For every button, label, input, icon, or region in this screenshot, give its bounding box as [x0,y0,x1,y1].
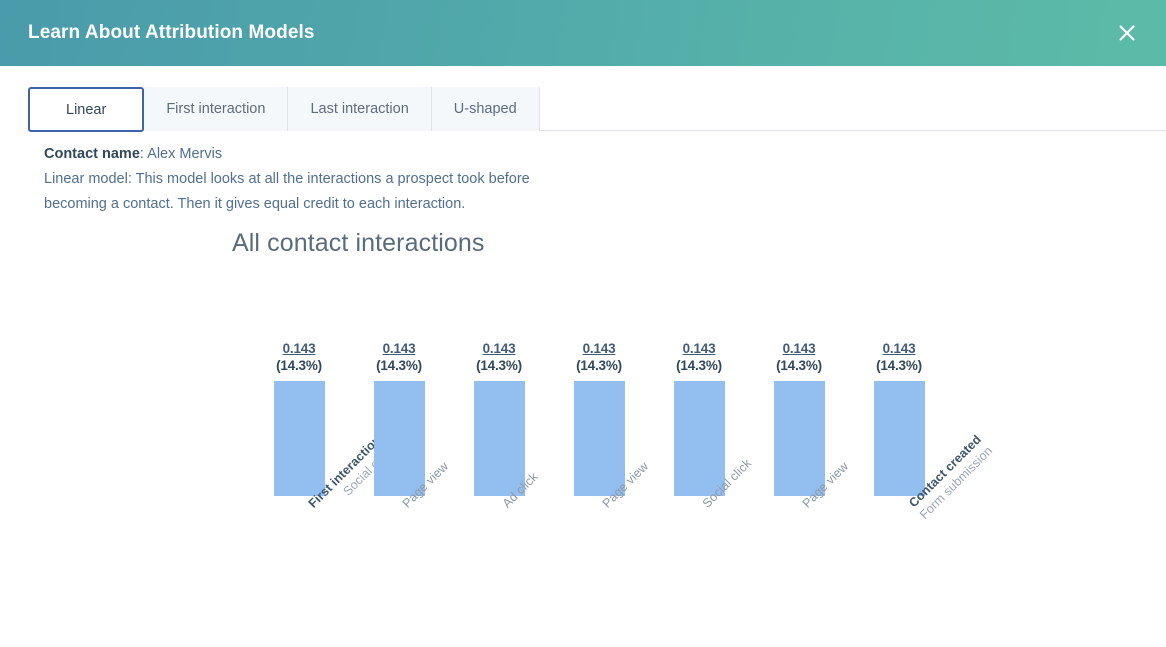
tab-label: Linear [66,102,106,118]
attribution-bar-chart: All contact interactions 0.143(14.3%)Fir… [0,221,1166,601]
bar-percent-label: (14.3%) [476,357,522,375]
tab-list: Linear First interaction Last interactio… [28,87,1166,131]
tab-first-interaction[interactable]: First interaction [144,87,288,131]
tab-u-shaped[interactable]: U-shaped [432,87,540,131]
tab-label: First interaction [166,101,265,117]
contact-name-label: Contact name [44,146,140,162]
x-axis-tick: Page view [549,496,649,601]
chart-plot-area: 0.143(14.3%)First interactionSocial clic… [0,221,1166,601]
modal-header: Learn About Attribution Models [0,0,1166,66]
tab-linear[interactable]: Linear [28,87,144,132]
description-block: Contact name: Alex Mervis Linear model: … [44,142,1166,217]
bar-rect[interactable] [374,381,425,496]
tab-label: U-shaped [454,101,517,117]
bar-group: 0.143(14.3%) [849,340,949,496]
model-description-line-1: Linear model: This model looks at all th… [44,167,1166,192]
bar-rect[interactable] [874,381,925,496]
bar-value-label[interactable]: 0.143 [683,340,716,357]
bar-rect[interactable] [574,381,625,496]
bar-group: 0.143(14.3%) [749,340,849,496]
bar-group: 0.143(14.3%) [349,340,449,496]
x-axis-tick: Page view [749,496,849,601]
bar-group: 0.143(14.3%) [449,340,549,496]
contact-name-value: : Alex Mervis [140,146,222,162]
bar-group: 0.143(14.3%) [549,340,649,496]
bar-group: 0.143(14.3%) [649,340,749,496]
bar-value-label[interactable]: 0.143 [483,340,516,357]
x-axis-tick: Page view [349,496,449,601]
bar-value-label[interactable]: 0.143 [883,340,916,357]
close-button[interactable] [1112,18,1142,48]
x-axis-tick: Social click [649,496,749,601]
bar-value-label[interactable]: 0.143 [583,340,616,357]
bar-percent-label: (14.3%) [276,357,322,375]
bar-rect[interactable] [774,381,825,496]
x-axis-tick: Contact createdForm submission [849,496,949,601]
model-description-line-2: becoming a contact. Then it gives equal … [44,192,1166,217]
bar-percent-label: (14.3%) [676,357,722,375]
bar-percent-label: (14.3%) [576,357,622,375]
bar-percent-label: (14.3%) [376,357,422,375]
x-axis-tick: First interactionSocial click [249,496,349,601]
page-title: Learn About Attribution Models [28,22,315,44]
bar-rect[interactable] [474,381,525,496]
bar-group: 0.143(14.3%) [249,340,349,496]
bar-value-label[interactable]: 0.143 [783,340,816,357]
close-icon [1116,22,1138,44]
bar-percent-label: (14.3%) [876,357,922,375]
contact-name-line: Contact name: Alex Mervis [44,142,1166,167]
tab-label: Last interaction [310,101,408,117]
bar-percent-label: (14.3%) [776,357,822,375]
bar-rect[interactable] [674,381,725,496]
bar-value-label[interactable]: 0.143 [283,340,316,357]
bar-value-label[interactable]: 0.143 [383,340,416,357]
tab-last-interaction[interactable]: Last interaction [288,87,431,131]
tab-bar: Linear First interaction Last interactio… [0,66,1166,131]
bar-rect[interactable] [274,381,325,496]
x-axis-tick: Ad click [449,496,549,601]
